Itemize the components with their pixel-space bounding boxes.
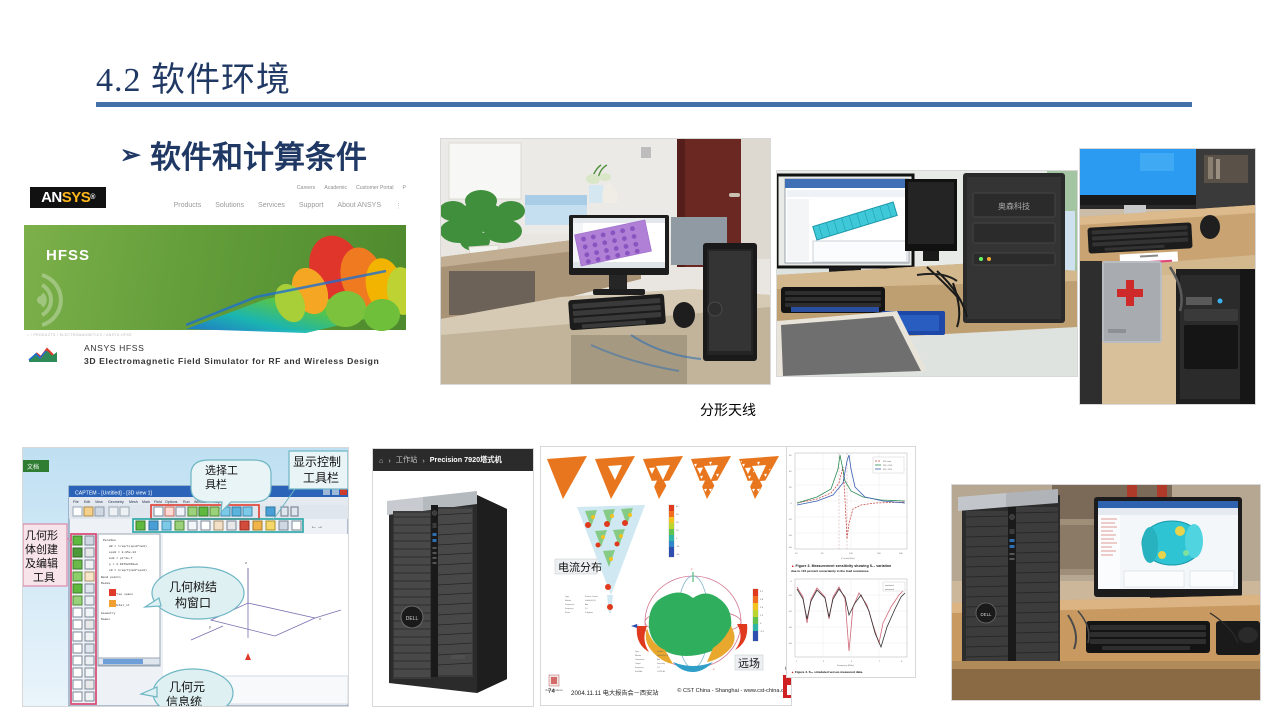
dell-breadcrumb-home[interactable]: ⌂ — [379, 456, 383, 465]
figures-illustration: S11 nomS11 +15%S11 -15% 604020 0-20-40 -… — [787, 447, 915, 677]
cst-copyright: © CST China - Shanghai - www.cst-china.c… — [677, 688, 787, 694]
nav-support[interactable]: Support — [299, 202, 324, 210]
svg-text:Rad.Effic.: Rad.Effic. — [635, 671, 643, 673]
svg-text:Run: Run — [183, 500, 190, 504]
photo-office-4-illustration: DELL — [952, 485, 1260, 700]
section-heading: ➢ 软件和计算条件 — [120, 132, 367, 177]
dell-breadcrumb-current: Precision 7920塔式机 — [430, 455, 502, 465]
svg-text:measured: measured — [885, 589, 894, 591]
svg-text:←→: ←→ — [311, 524, 323, 530]
sparameter-figures-panel: S11 nomS11 +15%S11 -15% 604020 0-20-40 -… — [786, 446, 916, 678]
cst-illustration: 403020 100-10 -20 电流分布 TypeSurface Curre… — [541, 447, 791, 705]
svg-text:S11 -15%: S11 -15% — [883, 469, 892, 471]
svg-text:DELL: DELL — [406, 616, 419, 622]
dell-breadcrumb[interactable]: ⌂ › 工作站 › Precision 7920塔式机 — [373, 449, 533, 471]
svg-text:View: View — [95, 500, 103, 504]
utility-nav-partial[interactable]: P — [403, 185, 406, 191]
svg-text:Directivity: Directivity — [657, 662, 665, 665]
svg-text:Geometry: Geometry — [101, 612, 116, 615]
svg-text:Monitor: Monitor — [635, 654, 641, 657]
svg-text:Mesh: Mesh — [129, 500, 138, 504]
svg-text:p = 2.99792458e8: p = 2.99792458e8 — [109, 563, 138, 566]
svg-text:Frequency (GHz): Frequency (GHz) — [837, 665, 854, 667]
svg-text:Options: Options — [165, 500, 178, 504]
svg-text:File: File — [73, 500, 79, 504]
svg-text:几何元: 几何元 — [169, 680, 205, 694]
svg-text:Geometry: Geometry — [108, 500, 124, 504]
nav-products[interactable]: Products — [174, 202, 202, 210]
ansys-logo-sys: SYS — [62, 189, 91, 206]
cst-event-label: 2004.11.11 电大报告会－西安站 — [571, 688, 658, 697]
ansys-hfss-webpage-capture: ANSYS® Careers Academic Customer Portal … — [24, 181, 406, 367]
svg-text:信息统: 信息统 — [166, 694, 202, 706]
svg-text:奥森科技: 奥森科技 — [998, 201, 1030, 211]
signal-waves-icon — [32, 273, 92, 327]
ansys-utility-nav[interactable]: Careers Academic Customer Portal P — [297, 185, 406, 191]
utility-nav-customer-portal[interactable]: Customer Portal — [356, 185, 393, 191]
nav-services[interactable]: Services — [258, 202, 285, 210]
svg-text:S11 +15%: S11 +15% — [883, 465, 893, 467]
svg-text:及编辑: 及编辑 — [25, 556, 58, 570]
svg-text:Abs: Abs — [585, 603, 588, 606]
svg-text:S11 nom: S11 nom — [883, 461, 891, 463]
cst-presentation-slide: 403020 100-10 -20 电流分布 TypeSurface Curre… — [540, 446, 792, 706]
svg-text:Abs: Abs — [657, 658, 660, 661]
hero-product-label: HFSS — [46, 247, 90, 264]
ansys-product-name: ANSYS HFSS — [84, 343, 144, 353]
dell-breadcrumb-sep-1: › — [388, 456, 390, 465]
svg-text:Surface Current: Surface Current — [585, 595, 598, 598]
svg-text:文档: 文档 — [27, 463, 39, 471]
svg-text:Mark: Mark — [142, 500, 150, 504]
ansys-breadcrumb[interactable]: ⌂ / PRODUCTS / ELECTROMAGNETICS / ANSYS-… — [27, 333, 132, 337]
figure-3-caption-part1: ▲ Figure 3. Measurement sensitivity show… — [791, 564, 891, 568]
svg-text:远场: 远场 — [738, 656, 760, 670]
ansys-main-nav[interactable]: Products Solutions Services Support Abou… — [174, 202, 402, 210]
svg-text:Frequency: Frequency — [635, 667, 644, 669]
svg-text:CAPTEM - [Untitled] - [3D view: CAPTEM - [Untitled] - [3D view 1] — [75, 491, 153, 497]
nav-solutions[interactable]: Solutions — [215, 202, 244, 210]
svg-text:具栏: 具栏 — [205, 477, 227, 491]
svg-text:Metal_nl: Metal_nl — [115, 603, 130, 607]
svg-text:Monitor: Monitor — [565, 599, 571, 602]
svg-text:工具: 工具 — [33, 571, 55, 584]
ansys-topbar: ANSYS® Careers Academic Customer Portal … — [24, 181, 406, 225]
svg-text:Type: Type — [635, 651, 639, 653]
ansys-hero-banner: HFSS — [24, 225, 406, 330]
figure-3-caption-part2: due to ±15 percent uncertainty in the lo… — [791, 569, 869, 573]
svg-text:x: x — [319, 616, 321, 621]
captem-illustration: 文档 CAPTEM - [Untitled] - [3D view 1] Fil… — [23, 448, 348, 706]
title-divider — [96, 102, 1192, 107]
photo-office-2-illustration: 奥森科技 — [777, 171, 1077, 376]
dell-breadcrumb-category[interactable]: 工作站 — [396, 455, 418, 465]
svg-text:几何树结: 几何树结 — [169, 579, 217, 594]
svg-text:体创建: 体创建 — [25, 542, 58, 556]
fractal-antenna-caption: 分形天线 — [700, 400, 756, 420]
nav-overflow-icon[interactable]: ⋮ — [395, 202, 402, 210]
svg-text:mu0 = pi*4e-7: mu0 = pi*4e-7 — [109, 556, 133, 560]
photo-office-workstation-2: 奥森科技 — [776, 170, 1078, 377]
product-thumbnail-icon — [28, 345, 58, 363]
svg-text:显示控制: 显示控制 — [293, 455, 341, 469]
photo-office-1-illustration — [441, 139, 770, 384]
svg-text:0 degrees: 0 degrees — [585, 612, 593, 614]
section-heading-label: 软件和计算条件 — [150, 132, 367, 177]
svg-text:Output: Output — [635, 662, 641, 665]
svg-text:选择工: 选择工 — [205, 463, 238, 477]
svg-text:d0 = l/sqrt(eps0*mu0): d0 = l/sqrt(eps0*mu0) — [109, 544, 147, 548]
svg-text:Farfield: Farfield — [657, 651, 663, 653]
svg-text:simulated: simulated — [885, 584, 894, 587]
svg-text:Band points: Band points — [101, 575, 121, 579]
svg-text:Field: Field — [154, 500, 162, 504]
svg-text:Type: Type — [565, 596, 569, 598]
svg-text:Nodes: Nodes — [101, 617, 110, 621]
svg-text:Component: Component — [565, 603, 575, 606]
utility-nav-academic[interactable]: Academic — [324, 185, 347, 191]
svg-text:free space: free space — [115, 592, 133, 596]
bullet-arrow-icon: ➢ — [120, 140, 141, 170]
svg-text:c0 = 1/sqrt(mu0*eps0): c0 = 1/sqrt(mu0*eps0) — [109, 568, 147, 572]
photo-office-workstation-4: DELL — [951, 484, 1261, 701]
svg-text:Z_load (Ohm): Z_load (Ohm) — [840, 558, 855, 560]
svg-text:2.4: 2.4 — [657, 667, 660, 669]
svg-text:-0.214 dB: -0.214 dB — [657, 671, 666, 673]
cst-slide-footer: 74 2004.11.11 电大报告会－西安站 © CST China - Sh… — [541, 685, 791, 701]
svg-text:电流分布: 电流分布 — [558, 560, 602, 574]
svg-text:构窗口: 构窗口 — [175, 595, 211, 610]
ansys-product-tagline: 3D Electromagnetic Field Simulator for R… — [84, 356, 379, 366]
svg-text:Media: Media — [101, 581, 110, 585]
svg-text:farfield (f=2.4): farfield (f=2.4) — [657, 655, 669, 657]
svg-text:z: z — [245, 560, 247, 565]
dell-precision-product-page: ⌂ › 工作站 › Precision 7920塔式机 — [372, 448, 534, 707]
figure-4-caption: ▲ Figure 4. S₁₁ simulated versus measure… — [791, 670, 863, 674]
svg-text:DELL: DELL — [981, 612, 993, 617]
photo-office-workstation-3 — [1079, 148, 1256, 405]
ansys-logo: ANSYS® — [30, 187, 106, 208]
svg-text:h-field (f=2.4): h-field (f=2.4) — [585, 600, 596, 602]
utility-nav-careers[interactable]: Careers — [297, 185, 315, 191]
svg-text:Phase: Phase — [565, 612, 570, 614]
svg-text:Component: Component — [635, 658, 645, 661]
nav-about-ansys[interactable]: About ANSYS — [337, 202, 381, 210]
svg-text:Frequency: Frequency — [565, 608, 574, 610]
svg-text:工具栏: 工具栏 — [303, 470, 339, 485]
dell-breadcrumb-sep-2: › — [422, 456, 424, 465]
svg-text:y: y — [209, 624, 211, 629]
svg-text:几何形: 几何形 — [25, 529, 58, 542]
svg-text:eps0 = 8.85e-12: eps0 = 8.85e-12 — [109, 551, 136, 554]
dell-tower-illustration: DELL — [373, 471, 533, 706]
svg-text:Edit: Edit — [84, 500, 90, 504]
photo-office-3-illustration — [1080, 149, 1255, 404]
page-title: 4.2 软件环境 — [96, 52, 291, 101]
radiation-pattern-graphic — [186, 233, 406, 333]
svg-text:ParaSim: ParaSim — [103, 538, 116, 542]
svg-text:2.4: 2.4 — [585, 608, 588, 610]
captem-software-screenshot: 文档 CAPTEM - [Untitled] - [3D view 1] Fil… — [22, 447, 349, 707]
photo-office-workstation-1 — [440, 138, 771, 385]
ansys-logo-an: AN — [41, 189, 62, 206]
cst-page-number: 74 — [548, 688, 555, 695]
